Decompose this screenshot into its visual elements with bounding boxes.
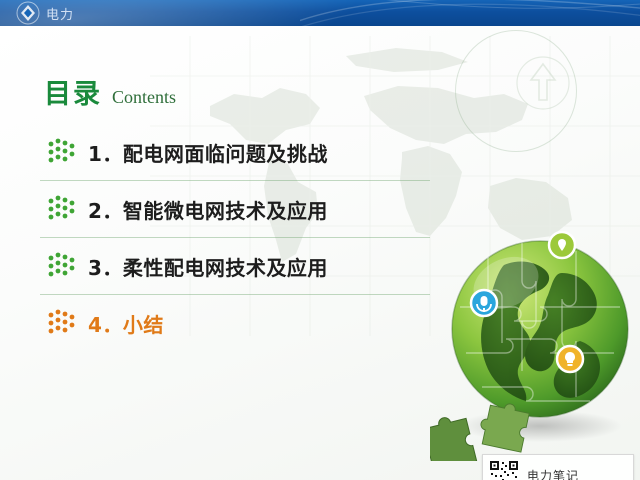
page-title: 目录 Contents [44,72,176,111]
dot-cluster-icon [46,308,80,338]
microphone-icon [471,290,497,316]
lightbulb-icon [557,346,583,372]
slide-header-bar: 电力 [0,0,640,26]
diamond-logo-icon [16,1,40,25]
list-item[interactable]: 2．智能微电网技术及应用 [40,181,430,238]
list-item[interactable]: 3．柔性配电网技术及应用 [40,238,430,295]
title-chinese: 目录 [44,72,102,111]
up-arrow-watermark-icon [516,48,570,118]
qr-code-icon [489,460,519,480]
title-english: Contents [112,87,176,108]
list-item-label: 3．柔性配电网技术及应用 [88,252,328,281]
qr-card-label: 电力笔记 [527,467,579,480]
list-item-label: 2．智能微电网技术及应用 [88,195,328,224]
dot-cluster-icon [46,194,80,224]
dot-cluster-icon [46,251,80,281]
list-item[interactable]: 1．配电网面临问题及挑战 [40,124,430,181]
slide-body: 目录 Contents 1．配电网面临问题及挑战 [0,26,640,480]
list-item[interactable]: 4．小结 [40,295,430,351]
contents-list: 1．配电网面临问题及挑战 2．智能微电网技术及应用 [40,124,430,351]
header-title: 电力 [46,4,74,23]
list-item-label: 1．配电网面临问题及挑战 [88,138,328,167]
header-arc-decoration [300,0,640,26]
wechat-qr-card[interactable]: 电力笔记 [482,454,634,480]
dot-cluster-icon [46,137,80,167]
green-puzzle-globe [430,211,640,461]
location-pin-icon [549,232,575,258]
slide-canvas: 电力 目录 Conte [0,0,640,480]
list-item-label: 4．小结 [88,309,164,338]
